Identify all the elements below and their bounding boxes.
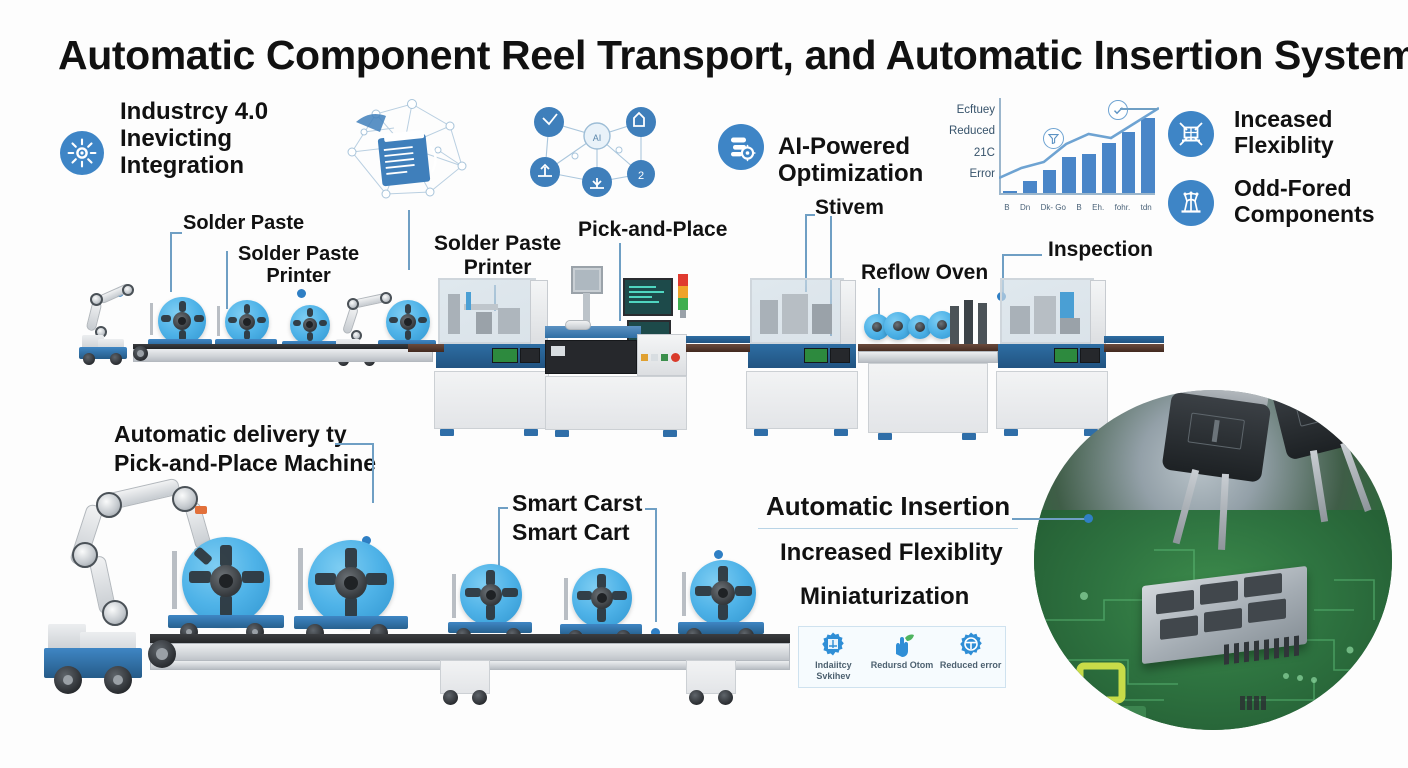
cart-post [150, 303, 153, 335]
conveyor-leg [440, 660, 490, 708]
machine-control-panel [804, 348, 828, 363]
lower-reel-cart-large [294, 530, 414, 640]
reel-hub-center [306, 321, 313, 328]
conveyor-leg-caster [443, 690, 458, 705]
machine-button-row [641, 352, 685, 362]
robot-arm-joint [96, 492, 122, 518]
reel-hub-center [219, 574, 233, 588]
leader-solder-paste-elbow [170, 232, 182, 234]
odd-form-component-icon [1176, 188, 1206, 218]
conveyor-leg-plate [686, 660, 736, 694]
reel-hub-center [718, 588, 728, 598]
leader-auto-delivery-elbow [335, 443, 373, 445]
robot-arm-joint [122, 284, 134, 296]
machine-control-panel [830, 348, 850, 363]
cart-post [682, 572, 686, 616]
reel-spoke [228, 317, 237, 323]
component-reel [308, 540, 394, 626]
chart-x-tick-label: fohr. [1115, 203, 1131, 212]
reel-spoke [194, 315, 204, 322]
hand-leaf-icon [889, 631, 915, 657]
lower-reel-cart [448, 562, 538, 640]
reel-hub-center [404, 318, 412, 326]
chart-y-annotations: Ecftuey Reduced 21C Error [925, 100, 995, 185]
machine-control-panel [1080, 348, 1100, 363]
svg-text:2: 2 [638, 170, 644, 182]
robot-arm-joint [102, 600, 128, 626]
reel-spoke [161, 315, 171, 322]
machine-internal-parts [758, 290, 836, 338]
mini-card-caption: Reduced error [940, 660, 1002, 671]
reel-spoke [345, 548, 357, 569]
machine-foot [1004, 429, 1018, 436]
page-title: Automatic Component Reel Transport, and … [58, 32, 1408, 79]
industry40-badge-label: Industrcy 4.0 Inevicting Integration [120, 99, 268, 180]
reel-hub-center [243, 318, 251, 326]
chart-y-annotation: Reduced [925, 121, 995, 142]
leader-dot-printer-1 [297, 289, 306, 298]
reel-hub-center [344, 576, 358, 590]
cart-post [452, 574, 456, 618]
reel-spoke [293, 320, 301, 326]
conveyor-leg-caster [718, 690, 733, 705]
chart-bar [1141, 118, 1155, 193]
machine-internal-parts [1008, 290, 1086, 338]
chip-die-module [1160, 615, 1198, 640]
machine-foot [754, 429, 768, 436]
inter-machine-rail [1104, 336, 1164, 343]
chart-bar [1003, 191, 1017, 193]
lower-reel-cart [678, 550, 770, 642]
mini-card-caption: Indaiitcy Svkihev [799, 660, 868, 682]
reflow-stacks [950, 300, 996, 344]
machine-pedestal [746, 371, 858, 429]
inter-machine-belt [1104, 344, 1164, 352]
inter-machine-belt [408, 344, 444, 352]
reel-spoke [405, 304, 411, 314]
reel-spoke [220, 545, 232, 567]
machine-pedestal [996, 371, 1108, 429]
chart-y-annotation: Ecftuey [925, 100, 995, 121]
chip-die-module [1244, 573, 1282, 598]
component-reel [690, 560, 756, 626]
chart-bar [1062, 157, 1076, 193]
machine-screen-text [629, 286, 667, 308]
reel-hub [937, 320, 947, 330]
chart-bars [1003, 115, 1155, 193]
machine-control-panel [1054, 348, 1078, 363]
component-reel [572, 568, 632, 628]
inter-machine-rail [686, 336, 750, 343]
leader-stivem-elbow [805, 214, 815, 216]
chart-node-filter-icon [1043, 128, 1064, 149]
leader-inspection-elbow [1002, 254, 1042, 256]
mini-card: Reduced error [936, 627, 1005, 671]
reel-spoke [465, 588, 481, 597]
callout-label-auto-delivery: Automatic delivery ty Pick-and-Place Mac… [114, 420, 376, 477]
reel-spoke [242, 571, 264, 583]
leader-pcb-inset [1012, 518, 1088, 520]
chip-die-module [1200, 580, 1238, 605]
callout-label-pick-and-place: Pick-and-Place [578, 218, 727, 242]
reel-spoke [502, 588, 518, 597]
mini-card: Redursd Otom [868, 627, 937, 671]
reel-spoke [179, 301, 186, 312]
robot-arm-joint [90, 293, 103, 306]
pcb-photo-inset [1034, 390, 1392, 730]
reel-spoke [735, 586, 752, 596]
reel-spoke [319, 320, 327, 326]
mini-card-caption: Redursd Otom [871, 660, 934, 671]
machine-foot [440, 429, 454, 436]
cart-post [298, 548, 303, 610]
callout-label-inspection: Inspection [1048, 238, 1153, 262]
reel-hub-center [486, 590, 496, 600]
robot-arm-joint [72, 542, 98, 568]
component-reel [158, 297, 206, 345]
reel-spoke [315, 573, 336, 585]
gear-cog-icon [67, 138, 97, 168]
reel-spoke [244, 304, 250, 314]
leader-smart-cart-left-elbow [498, 507, 508, 509]
right-block-line2: Miniaturization [800, 584, 969, 611]
reel-hub [915, 322, 925, 332]
placement-head [565, 320, 591, 330]
reel-spoke [695, 586, 712, 596]
cart-post [564, 578, 568, 620]
component-reel [290, 305, 330, 345]
machine-tower-light [678, 274, 688, 318]
lower-reel-cart [560, 566, 650, 644]
component-reel [225, 300, 269, 344]
chart-x-tick-label: Eh. [1092, 203, 1104, 212]
callout-label-solder-paste: Solder Paste [183, 212, 304, 234]
machine-pedestal [434, 371, 549, 429]
reel-hub-center [178, 317, 186, 325]
industry40-badge-icon [60, 131, 104, 175]
callout-label-reflow-oven: Reflow Oven [861, 261, 988, 285]
reel-spoke [718, 603, 728, 620]
reel-spoke [345, 597, 357, 618]
leader-solder-paste-printer-2 [408, 210, 410, 270]
target-gear-icon [958, 631, 984, 657]
machine-pick-and-place [545, 266, 690, 440]
document-network-graphic [334, 92, 474, 202]
machine-reflow-oven [858, 300, 998, 440]
odd-form-badge-label: Odd-Fored Components [1234, 176, 1375, 228]
cart-post [172, 551, 177, 609]
odd-form-badge-icon [1168, 180, 1214, 226]
callout-label-solder-paste-printer-2: Solder Paste Printer [434, 232, 561, 279]
callout-label-stivem: Stivem [815, 196, 884, 220]
machine-foot [962, 433, 976, 440]
chart-x-tick-labels: BDnDk- GoBEh.fohr.tԁn [999, 203, 1157, 212]
reel-spoke [257, 317, 266, 323]
leader-solder-paste [170, 232, 172, 292]
reel-spoke [366, 573, 387, 585]
chip-die-module [1204, 608, 1242, 633]
chart-y-annotation: Error [925, 164, 995, 185]
conveyor-leg [686, 660, 736, 708]
chart-bar [1102, 143, 1116, 193]
ai-optimization-badge-label: AI-Powered Optimization [778, 134, 923, 188]
inter-machine-belt [686, 344, 750, 352]
reel-hub-center [597, 593, 607, 603]
reflow-reels [864, 310, 954, 344]
cart-post [217, 306, 220, 336]
agv-wheel [110, 353, 122, 365]
chart-x-tick-label: tԁn [1141, 203, 1152, 212]
flexibility-badge-label: Inceased Flexiblity [1234, 107, 1334, 159]
robot-arm-joint [347, 298, 359, 310]
mini-cards-strip: Indaiitcy Svkihev Redursd Otom Reduced e… [798, 626, 1006, 688]
machine-pedestal [868, 363, 988, 433]
chart-bar [1082, 154, 1096, 193]
machine-solder-paste-printer [432, 278, 549, 440]
chart-x-axis [999, 193, 1155, 195]
industry-gear-icon [820, 631, 846, 657]
chart-x-tick-label: B [1076, 203, 1081, 212]
chart-bar [1122, 132, 1136, 193]
agv-wheel-hub [63, 675, 73, 685]
leader-dot-pcb-inset [1084, 514, 1093, 523]
lower-reel-cart-large [168, 535, 288, 640]
ai-chip-gear-icon [726, 132, 756, 162]
ai-optimization-badge-icon [718, 124, 764, 170]
chip-die-module [1248, 598, 1286, 623]
component-reel [386, 300, 430, 344]
chart-bar [1023, 181, 1037, 193]
conveyor-leg-caster [689, 690, 704, 705]
reel-spoke [612, 591, 627, 600]
reel-spoke [220, 595, 232, 617]
flexibility-badge-icon [1168, 111, 1214, 157]
mini-card: Indaiitcy Svkihev [799, 627, 868, 682]
reel-spoke [189, 571, 211, 583]
flexible-machine-icon [1176, 119, 1206, 149]
reel-spoke [418, 317, 427, 323]
component-reel [182, 537, 270, 625]
machine-control-panel [492, 348, 518, 363]
callout-label-smart-cart: Smart Carst Smart Cart [512, 489, 642, 546]
reel-spoke [597, 607, 606, 622]
machine-foot [878, 433, 892, 440]
reel-spoke [307, 332, 313, 341]
machine-foot [524, 429, 538, 436]
gear-node-network-graphic: 2 AI [515, 96, 675, 200]
reflow-conveyor-rail [858, 351, 998, 363]
machine-internal-parts [446, 288, 526, 338]
reel-spoke [577, 591, 592, 600]
chip-die-module [1156, 590, 1194, 615]
machine-overhead-monitor [571, 266, 603, 294]
right-block-line1: Increased Flexiblity [780, 540, 1003, 567]
right-block-heading: Automatic Insertion [766, 492, 1010, 521]
reel-spoke [486, 604, 495, 620]
chart-y-annotation: 21C [925, 143, 995, 164]
callout-label-solder-paste-printer-1: Solder Paste Printer [238, 243, 359, 288]
machine-foot [663, 430, 677, 437]
chart-bar [1043, 170, 1057, 193]
machine-inspection [996, 278, 1108, 440]
reel-hub [872, 322, 882, 332]
machine-pedestal [545, 376, 687, 430]
reel-spoke [193, 546, 213, 565]
machine-foot [834, 429, 848, 436]
chart-x-tick-label: Dk- Go [1041, 203, 1066, 212]
conveyor-leg-plate [440, 660, 490, 694]
reel-hub [893, 321, 903, 331]
leader-smart-cart-right-elbow [645, 508, 656, 510]
machine-upper-cabinet [840, 280, 856, 346]
reel-spoke [307, 308, 313, 317]
leader-auto-delivery [372, 443, 374, 503]
agv-wheel-hub [113, 675, 123, 685]
reel-spoke [389, 317, 398, 323]
component-reel [460, 564, 522, 626]
reel-spoke [405, 330, 411, 340]
chart-leader-line [1120, 108, 1158, 110]
svg-text:AI: AI [593, 133, 602, 143]
chart-x-tick-label: B [1004, 203, 1009, 212]
conveyor-roller-hub [156, 648, 168, 660]
upper-conveyor-belt [133, 344, 433, 349]
conveyor-leg-caster [472, 690, 487, 705]
machine-control-panel [520, 348, 540, 363]
leader-smart-cart-right [655, 508, 657, 622]
machine-stivem [746, 278, 858, 440]
cart-connection-dot [714, 550, 723, 559]
machine-foot [555, 430, 569, 437]
conveyor-roller-hub [137, 350, 144, 357]
performance-chart: Ecftuey Reduced 21C Error BDnDk- GoBEh.f… [925, 96, 1157, 214]
right-block-divider [758, 528, 1018, 529]
upper-conveyor-rail [133, 348, 433, 362]
chart-y-axis [999, 98, 1001, 194]
agv-wheel [83, 353, 95, 365]
chart-x-tick-label: Dn [1020, 203, 1030, 212]
chart-node-check-icon [1108, 100, 1128, 120]
infographic-canvas: Automatic Component Reel Transport, and … [0, 0, 1408, 768]
